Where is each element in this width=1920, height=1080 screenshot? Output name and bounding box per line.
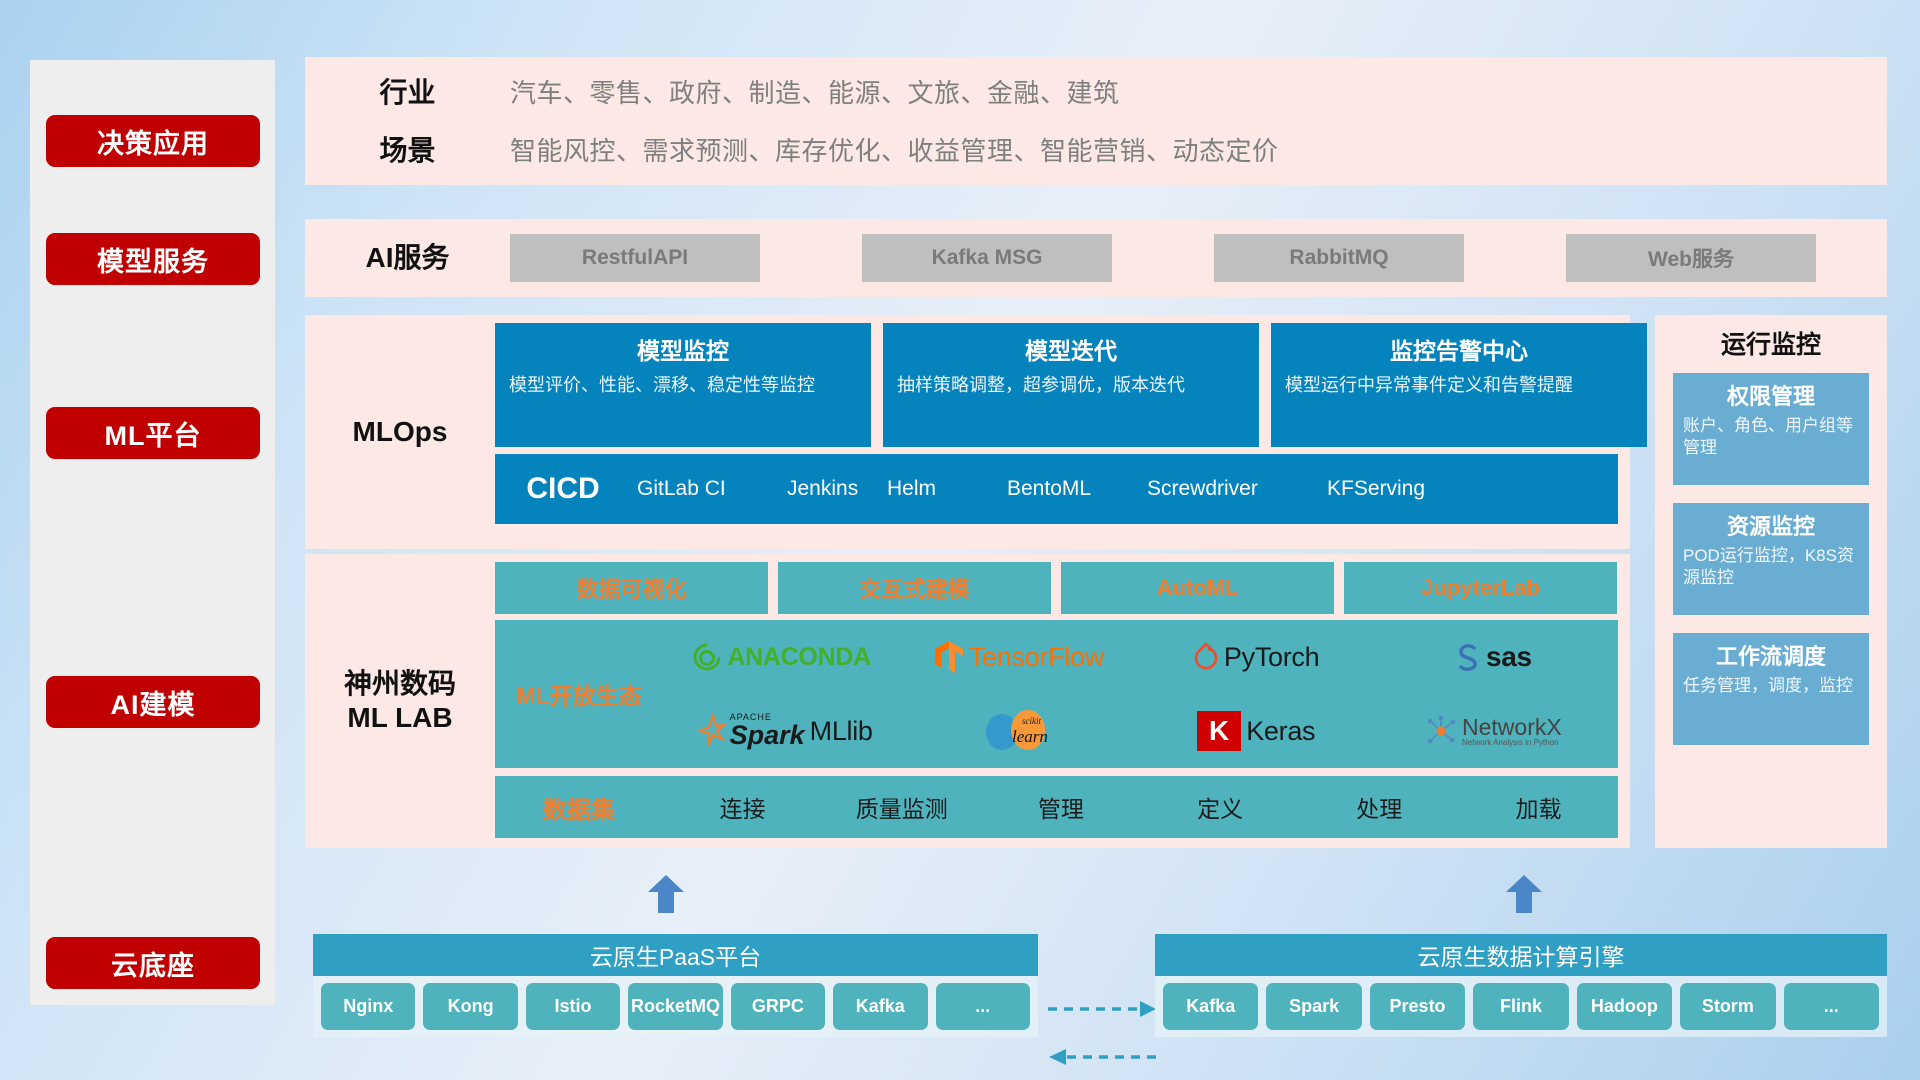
keras-k-mark: K bbox=[1197, 711, 1241, 751]
sas-logo: sas bbox=[1455, 641, 1532, 673]
sidebar-item-label: AI建模 bbox=[111, 683, 196, 722]
dataset-item-quality-monitor[interactable]: 质量监测 bbox=[822, 790, 981, 824]
chip-flink[interactable]: Flink bbox=[1473, 983, 1568, 1030]
sas-wordmark: sas bbox=[1486, 641, 1532, 673]
chip-istio[interactable]: Istio bbox=[526, 983, 620, 1030]
ai-service-band: AI服务 RestfulAPI Kafka MSG RabbitMQ Web服务 bbox=[305, 219, 1887, 297]
ml-lab-tab-list: 数据可视化 交互式建模 AutoML JupyterLab bbox=[495, 562, 1617, 614]
keras-wordmark: Keras bbox=[1246, 716, 1315, 747]
card-desc: 模型评价、性能、漂移、稳定性等监控 bbox=[509, 373, 857, 397]
monitor-card-resource[interactable]: 资源监控 POD运行监控，K8S资源监控 bbox=[1673, 503, 1869, 615]
anaconda-icon bbox=[692, 642, 722, 672]
industry-row: 行业 汽车、零售、政府、制造、能源、文旅、金融、建筑 bbox=[305, 71, 1120, 111]
ml-ecosystem-title: ML开放生态 bbox=[495, 677, 663, 711]
chip-spark[interactable]: Spark bbox=[1266, 983, 1361, 1030]
pytorch-icon bbox=[1193, 642, 1219, 672]
cloud-paas-chip-list: Nginx Kong Istio RocketMQ GRPC Kafka ... bbox=[313, 976, 1038, 1037]
card-title: 监控告警中心 bbox=[1285, 332, 1633, 366]
card-desc: 模型运行中异常事件定义和告警提醒 bbox=[1285, 373, 1633, 397]
cicd-row: CICD GitLab CI Jenkins Helm BentoML Scre… bbox=[495, 454, 1618, 524]
industry-values: 汽车、零售、政府、制造、能源、文旅、金融、建筑 bbox=[510, 73, 1120, 110]
sidebar-item-label: 云底座 bbox=[111, 944, 195, 983]
pytorch-logo: PyTorch bbox=[1193, 642, 1319, 673]
tensorflow-icon bbox=[934, 640, 964, 674]
sidebar-item-decision-app[interactable]: 决策应用 bbox=[46, 115, 260, 167]
monitoring-title: 运行监控 bbox=[1655, 325, 1887, 361]
mlops-card-model-monitoring[interactable]: 模型监控 模型评价、性能、漂移、稳定性等监控 bbox=[495, 323, 871, 447]
sas-icon bbox=[1455, 642, 1481, 672]
ml-lab-label: 神州数码 ML LAB bbox=[305, 554, 495, 848]
scenario-row: 场景 智能风控、需求预测、库存优化、收益管理、智能营销、动态定价 bbox=[305, 129, 1279, 169]
up-arrow-paas-icon bbox=[646, 875, 686, 913]
ml-lab-label-en: ML LAB bbox=[347, 701, 452, 735]
sidebar-item-ml-platform[interactable]: ML平台 bbox=[46, 407, 260, 459]
cicd-item-helm[interactable]: Helm bbox=[881, 477, 1001, 502]
dataset-title: 数据集 bbox=[495, 790, 663, 825]
anaconda-logo: ANACONDA bbox=[692, 642, 870, 672]
up-arrow-data-engine-icon bbox=[1504, 875, 1544, 913]
spark-mllib-logo: APACHE Spark MLlib bbox=[691, 713, 873, 749]
networkx-icon bbox=[1425, 715, 1457, 747]
application-band: 行业 汽车、零售、政府、制造、能源、文旅、金融、建筑 场景 智能风控、需求预测、… bbox=[305, 57, 1887, 185]
monitor-card-permission[interactable]: 权限管理 账户、角色、用户组等管理 bbox=[1673, 373, 1869, 485]
chip-hadoop[interactable]: Hadoop bbox=[1577, 983, 1672, 1030]
chip-more[interactable]: ... bbox=[936, 983, 1030, 1030]
service-box-kafka-msg[interactable]: Kafka MSG bbox=[862, 234, 1112, 282]
cloud-data-engine-chip-list: Kafka Spark Presto Flink Hadoop Storm ..… bbox=[1155, 976, 1887, 1037]
service-box-rabbitmq[interactable]: RabbitMQ bbox=[1214, 234, 1464, 282]
spark-wordmark-group: APACHE Spark bbox=[730, 713, 805, 749]
dataset-item-define[interactable]: 定义 bbox=[1141, 790, 1300, 824]
anaconda-wordmark: ANACONDA bbox=[727, 643, 870, 672]
dataset-item-connect[interactable]: 连接 bbox=[663, 790, 822, 824]
ai-service-box-list: RestfulAPI Kafka MSG RabbitMQ Web服务 bbox=[510, 234, 1816, 282]
networkx-tagline: Network Analysis in Python bbox=[1462, 739, 1562, 747]
tab-data-visualization[interactable]: 数据可视化 bbox=[495, 562, 768, 614]
cloud-paas-block: 云原生PaaS平台 Nginx Kong Istio RocketMQ GRPC… bbox=[313, 934, 1038, 1037]
card-desc: POD运行监控，K8S资源监控 bbox=[1683, 545, 1859, 590]
chip-more[interactable]: ... bbox=[1784, 983, 1879, 1030]
ml-ecosystem-row: ML开放生态 ANACONDA TensorFlow bbox=[495, 620, 1618, 768]
ml-ecosystem-logo-grid: ANACONDA TensorFlow PyTorch bbox=[663, 620, 1618, 768]
svg-text:scikit: scikit bbox=[1022, 716, 1041, 726]
card-title: 模型监控 bbox=[509, 332, 857, 366]
scikit-learn-logo: scikit learn bbox=[982, 709, 1056, 753]
mlops-card-alert-center[interactable]: 监控告警中心 模型运行中异常事件定义和告警提醒 bbox=[1271, 323, 1647, 447]
keras-logo: K Keras bbox=[1197, 711, 1315, 751]
service-box-web[interactable]: Web服务 bbox=[1566, 234, 1816, 282]
svg-text:learn: learn bbox=[1012, 727, 1048, 746]
sidebar-item-ai-modeling[interactable]: AI建模 bbox=[46, 676, 260, 728]
tab-interactive-modeling[interactable]: 交互式建模 bbox=[778, 562, 1051, 614]
ai-service-label: AI服务 bbox=[305, 219, 510, 297]
mllib-wordmark: MLlib bbox=[810, 716, 873, 747]
chip-kong[interactable]: Kong bbox=[423, 983, 517, 1030]
chip-presto[interactable]: Presto bbox=[1370, 983, 1465, 1030]
ml-lab-label-cn: 神州数码 bbox=[344, 667, 456, 701]
card-desc: 抽样策略调整，超参调优，版本迭代 bbox=[897, 373, 1245, 397]
dataset-item-load[interactable]: 加载 bbox=[1459, 790, 1618, 824]
sidebar-item-label: 模型服务 bbox=[97, 240, 209, 279]
cloud-data-engine-block: 云原生数据计算引擎 Kafka Spark Presto Flink Hadoo… bbox=[1155, 934, 1887, 1037]
card-title: 工作流调度 bbox=[1683, 639, 1859, 671]
card-title: 权限管理 bbox=[1683, 379, 1859, 411]
chip-grpc[interactable]: GRPC bbox=[731, 983, 825, 1030]
chip-nginx[interactable]: Nginx bbox=[321, 983, 415, 1030]
cicd-title: CICD bbox=[495, 472, 631, 506]
card-title: 资源监控 bbox=[1683, 509, 1859, 541]
networkx-logo: NetworkX Network Analysis in Python bbox=[1425, 715, 1562, 748]
card-desc: 账户、角色、用户组等管理 bbox=[1683, 415, 1859, 460]
sidebar-item-label: ML平台 bbox=[105, 414, 202, 453]
tab-automl[interactable]: AutoML bbox=[1061, 562, 1334, 614]
card-title: 模型迭代 bbox=[897, 332, 1245, 366]
chip-rocketmq[interactable]: RocketMQ bbox=[628, 983, 722, 1030]
sidebar-item-model-service[interactable]: 模型服务 bbox=[46, 233, 260, 285]
cicd-item-kfserving[interactable]: KFServing bbox=[1321, 477, 1471, 502]
ml-lab-band: 神州数码 ML LAB 数据可视化 交互式建模 AutoML JupyterLa… bbox=[305, 554, 1630, 848]
cicd-item-screwdriver[interactable]: Screwdriver bbox=[1141, 477, 1321, 502]
scikit-learn-icon: scikit learn bbox=[982, 709, 1056, 753]
spark-star-icon bbox=[691, 714, 725, 748]
scenario-label: 场景 bbox=[305, 129, 510, 169]
mlops-card-list: 模型监控 模型评价、性能、漂移、稳定性等监控 模型迭代 抽样策略调整，超参调优，… bbox=[495, 323, 1647, 447]
monitor-card-workflow[interactable]: 工作流调度 任务管理，调度，监控 bbox=[1673, 633, 1869, 745]
cicd-item-gitlab-ci[interactable]: GitLab CI bbox=[631, 477, 781, 502]
pytorch-wordmark: PyTorch bbox=[1224, 642, 1319, 673]
chip-storm[interactable]: Storm bbox=[1680, 983, 1775, 1030]
cicd-item-bentoml[interactable]: BentoML bbox=[1001, 477, 1141, 502]
tensorflow-logo: TensorFlow bbox=[934, 640, 1104, 674]
mlops-band: MLOps 模型监控 模型评价、性能、漂移、稳定性等监控 模型迭代 抽样策略调整… bbox=[305, 315, 1630, 549]
layer-sidebar: 决策应用 模型服务 ML平台 AI建模 云底座 bbox=[30, 60, 275, 1005]
chip-kafka[interactable]: Kafka bbox=[1163, 983, 1258, 1030]
dataset-row: 数据集 连接 质量监测 管理 定义 处理 加载 bbox=[495, 776, 1618, 838]
mlops-label: MLOps bbox=[305, 315, 495, 549]
card-desc: 任务管理，调度，监控 bbox=[1683, 675, 1859, 697]
monitoring-panel: 运行监控 权限管理 账户、角色、用户组等管理 资源监控 POD运行监控，K8S资… bbox=[1655, 315, 1887, 848]
mlops-card-model-iteration[interactable]: 模型迭代 抽样策略调整，超参调优，版本迭代 bbox=[883, 323, 1259, 447]
cloud-data-engine-title: 云原生数据计算引擎 bbox=[1155, 934, 1887, 976]
chip-kafka[interactable]: Kafka bbox=[833, 983, 927, 1030]
dataset-item-process[interactable]: 处理 bbox=[1300, 790, 1459, 824]
dataset-item-manage[interactable]: 管理 bbox=[981, 790, 1140, 824]
sidebar-item-label: 决策应用 bbox=[97, 122, 209, 161]
spark-wordmark: Spark bbox=[730, 722, 805, 749]
networkx-wordmark: NetworkX bbox=[1462, 715, 1562, 739]
cicd-item-jenkins[interactable]: Jenkins bbox=[781, 477, 881, 502]
networkx-wordmark-group: NetworkX Network Analysis in Python bbox=[1462, 715, 1562, 748]
industry-label: 行业 bbox=[305, 71, 510, 111]
service-box-restfulapi[interactable]: RestfulAPI bbox=[510, 234, 760, 282]
tensorflow-wordmark: TensorFlow bbox=[969, 642, 1104, 673]
scenario-values: 智能风控、需求预测、库存优化、收益管理、智能营销、动态定价 bbox=[510, 131, 1279, 168]
tab-jupyterlab[interactable]: JupyterLab bbox=[1344, 562, 1617, 614]
bidirectional-link-arrows bbox=[1046, 985, 1158, 1080]
sidebar-item-cloud-foundation[interactable]: 云底座 bbox=[46, 937, 260, 989]
cloud-paas-title: 云原生PaaS平台 bbox=[313, 934, 1038, 976]
